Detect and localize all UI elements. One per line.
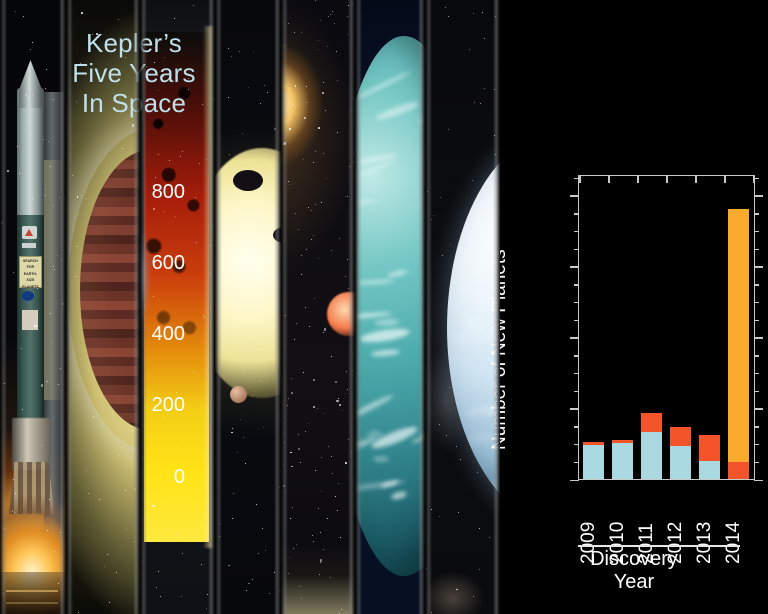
y-axis-major-tick-right — [754, 480, 763, 482]
bar-2014[interactable] — [728, 209, 748, 479]
planet-horizon-haze — [281, 544, 355, 614]
y-axis-minor-tick-right — [754, 444, 759, 446]
y-axis-minor-tick — [574, 373, 579, 375]
x-axis-label-2014: 2014 — [727, 486, 749, 542]
y-axis-minor-tick — [574, 249, 579, 251]
y-axis-major-tick — [570, 195, 579, 197]
y-axis-minor-tick-right — [754, 462, 759, 464]
x-axis-top-tick — [724, 176, 726, 183]
x-axis-top-tick — [579, 176, 581, 183]
cloud-wisp — [359, 326, 410, 345]
y-axis-major-tick-right — [754, 195, 763, 197]
bar-segment-lower-segment — [670, 446, 690, 479]
y-axis-major-tick — [570, 480, 579, 482]
y-axis-minor-tick-right — [754, 355, 759, 357]
panel-edge-left — [66, 0, 73, 614]
placard-line-1: SEARCH — [20, 257, 41, 263]
x-axis-title: Discovery Year — [500, 548, 768, 594]
foreground-rocky-planet — [230, 386, 247, 403]
y-axis-minor-tick-right — [754, 178, 759, 180]
placard-line-5: PLANETS — [20, 283, 41, 289]
flag-decal-icon — [22, 243, 36, 248]
y-axis-minor-tick — [574, 302, 579, 304]
y-axis-tick-label: 800 — [152, 181, 185, 204]
x-axis-label-2009: 2009 — [582, 486, 604, 542]
y-axis-minor-tick-right — [754, 213, 759, 215]
x-axis-label-2013: 2013 — [698, 486, 720, 542]
bar-2011[interactable] — [641, 413, 661, 479]
bar-segment-lower-segment — [612, 443, 632, 479]
y-axis-major-tick-right — [754, 266, 763, 268]
y-axis-minor-tick — [574, 355, 579, 357]
y-axis-minor-tick — [574, 284, 579, 286]
panel-edge-left — [355, 0, 362, 614]
y-axis-minor-tick — [574, 462, 579, 464]
bar-segment-upper-segment — [728, 462, 748, 479]
nasa-meatball-icon — [22, 291, 34, 301]
y-axis-minor-tick-right — [754, 284, 759, 286]
y-axis-tick-label: 600 — [152, 252, 185, 275]
y-axis-tick-label: 400 — [152, 323, 185, 346]
cloud-wisp — [370, 349, 400, 358]
x-axis-label-2010: 2010 — [611, 486, 633, 542]
x-axis-top-tick — [637, 176, 639, 183]
panel-ocean-world — [355, 0, 425, 614]
y-axis-minor-tick — [574, 213, 579, 215]
y-axis-minor-tick-right — [754, 249, 759, 251]
cloud-wisp — [374, 99, 420, 123]
panel-edge-right — [418, 0, 425, 614]
panel-edge-right — [274, 0, 281, 614]
y-axis-minor-tick — [574, 444, 579, 446]
ocean-cloud-layer — [355, 36, 425, 576]
y-axis-minor-tick — [574, 320, 579, 322]
panel-edge-left — [281, 0, 288, 614]
panel-edge-right — [348, 0, 355, 614]
x-axis-title-line-1: Discovery — [500, 548, 768, 571]
bar-segment-upper-segment — [699, 435, 719, 462]
y-axis-minor-tick-right — [754, 302, 759, 304]
x-axis-top-tick — [666, 176, 668, 183]
white-panel-decal — [22, 310, 38, 330]
y-axis-major-tick-right — [754, 408, 763, 410]
y-axis-minor-tick-right — [754, 391, 759, 393]
cloud-wisp — [375, 318, 399, 326]
nebula-glow — [425, 534, 495, 614]
y-axis-minor-tick-right — [754, 373, 759, 375]
panel-edge-left — [140, 0, 147, 614]
y-axis-minor-tick — [574, 231, 579, 233]
y-axis-minor-tick-right — [754, 320, 759, 322]
x-axis-label-2011: 2011 — [640, 486, 662, 542]
bar-segment-2014-highlight — [728, 209, 748, 462]
bar-segment-lower-segment — [641, 432, 661, 479]
ula-logo-icon — [22, 226, 37, 239]
bar-chart-plot-area — [578, 175, 755, 480]
transiting-planet-1 — [233, 170, 263, 191]
y-axis-tick-label: 200 — [152, 394, 185, 417]
y-axis-major-tick — [570, 408, 579, 410]
y-axis-minor-tick-right — [754, 426, 759, 428]
x-axis-top-tick — [753, 176, 755, 183]
kepler-five-years-infographic: SEARCH FOR EARTH- SIZE PLANETS — [0, 0, 768, 614]
x-axis-title-rule — [578, 545, 740, 547]
bar-segment-lower-segment — [699, 461, 719, 479]
y-axis-minor-tick — [574, 391, 579, 393]
bar-2013[interactable] — [699, 435, 719, 479]
mission-placard: SEARCH FOR EARTH- SIZE PLANETS — [19, 256, 42, 288]
x-axis-top-tick — [608, 176, 610, 183]
panel-edge-left — [425, 0, 432, 614]
x-axis-top-tick — [695, 176, 697, 183]
bar-segment-upper-segment — [612, 440, 632, 444]
y-axis-minor-tick-right — [754, 231, 759, 233]
bar-2009[interactable] — [583, 442, 603, 479]
launch-pad — [0, 572, 66, 614]
panel-edge-right — [59, 0, 66, 614]
panel-starfield-red-dwarf — [281, 0, 355, 614]
x-axis-label-2012: 2012 — [669, 486, 691, 542]
pad-rail-upper — [6, 590, 58, 592]
y-axis-minor-tick — [574, 426, 579, 428]
panel-edge-right — [208, 0, 215, 614]
bar-segment-lower-segment — [583, 445, 603, 479]
y-axis-tick-label: 0 — [174, 466, 185, 489]
panel-edge-left — [215, 0, 222, 614]
y-axis-major-tick-right — [754, 337, 763, 339]
bar-segment-upper-segment — [641, 413, 661, 432]
cloud-wisp — [390, 490, 407, 501]
y-axis-major-tick — [570, 337, 579, 339]
cloud-wisp — [356, 278, 394, 285]
pad-rail-lower — [6, 602, 58, 604]
x-axis-title-line-2: Year — [500, 571, 768, 594]
y-axis-title: Number of New Planets — [511, 200, 533, 450]
panel-edge-right — [493, 0, 500, 614]
cloud-wisp — [387, 268, 409, 277]
y-axis-major-tick — [570, 266, 579, 268]
panel-edge-right — [133, 0, 140, 614]
panel-edge-left — [0, 0, 7, 614]
cloud-wisp — [373, 455, 389, 461]
bar-segment-upper-segment — [583, 442, 603, 444]
bar-segment-upper-segment — [670, 427, 690, 447]
bar-2010[interactable] — [612, 440, 632, 479]
bar-2012[interactable] — [670, 427, 690, 479]
